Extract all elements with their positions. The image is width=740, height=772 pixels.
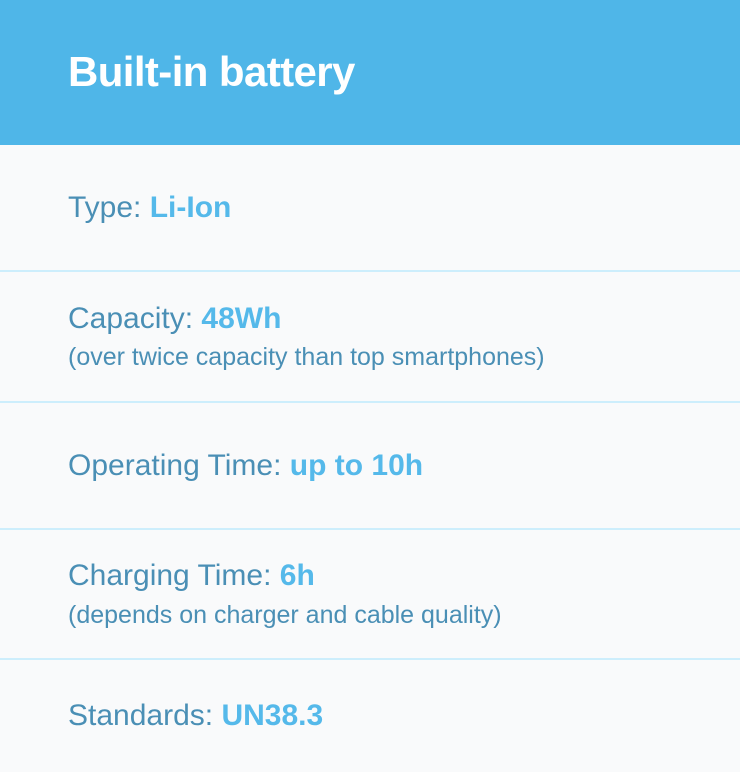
spec-label-standards: Standards: bbox=[68, 699, 213, 732]
spec-row-type: Type: Li-Ion bbox=[0, 145, 740, 272]
spec-row-capacity: Capacity: 48Wh (over twice capacity than… bbox=[0, 272, 740, 403]
spec-value-standards: UN38.3 bbox=[221, 699, 323, 732]
spec-value-operating-time: up to 10h bbox=[290, 449, 423, 482]
spec-line-type: Type: Li-Ion bbox=[68, 189, 672, 227]
spec-line-charging-time: Charging Time: 6h bbox=[68, 557, 672, 595]
spec-label-charging-time: Charging Time: bbox=[68, 559, 271, 592]
spec-label-capacity: Capacity: bbox=[68, 302, 193, 335]
spec-row-operating-time: Operating Time: up to 10h bbox=[0, 403, 740, 530]
spec-line-operating-time: Operating Time: up to 10h bbox=[68, 447, 672, 485]
spec-value-capacity: 48Wh bbox=[201, 302, 281, 335]
spec-row-standards: Standards: UN38.3 bbox=[0, 660, 740, 772]
spec-value-type: Li-Ion bbox=[150, 191, 232, 224]
spec-line-capacity: Capacity: 48Wh bbox=[68, 300, 672, 338]
card-header: Built-in battery bbox=[0, 0, 740, 145]
spec-label-type: Type: bbox=[68, 191, 141, 224]
page-title: Built-in battery bbox=[68, 50, 355, 94]
spec-value-charging-time: 6h bbox=[280, 559, 315, 592]
spec-note-capacity: (over twice capacity than top smartphone… bbox=[68, 341, 672, 374]
spec-note-charging-time: (depends on charger and cable quality) bbox=[68, 599, 672, 632]
spec-line-standards: Standards: UN38.3 bbox=[68, 697, 672, 735]
built-in-battery-spec-card: Built-in battery Type: Li-Ion Capacity: … bbox=[0, 0, 740, 772]
spec-label-operating-time: Operating Time: bbox=[68, 449, 281, 482]
spec-row-charging-time: Charging Time: 6h (depends on charger an… bbox=[0, 530, 740, 660]
spec-list: Type: Li-Ion Capacity: 48Wh (over twice … bbox=[0, 145, 740, 772]
